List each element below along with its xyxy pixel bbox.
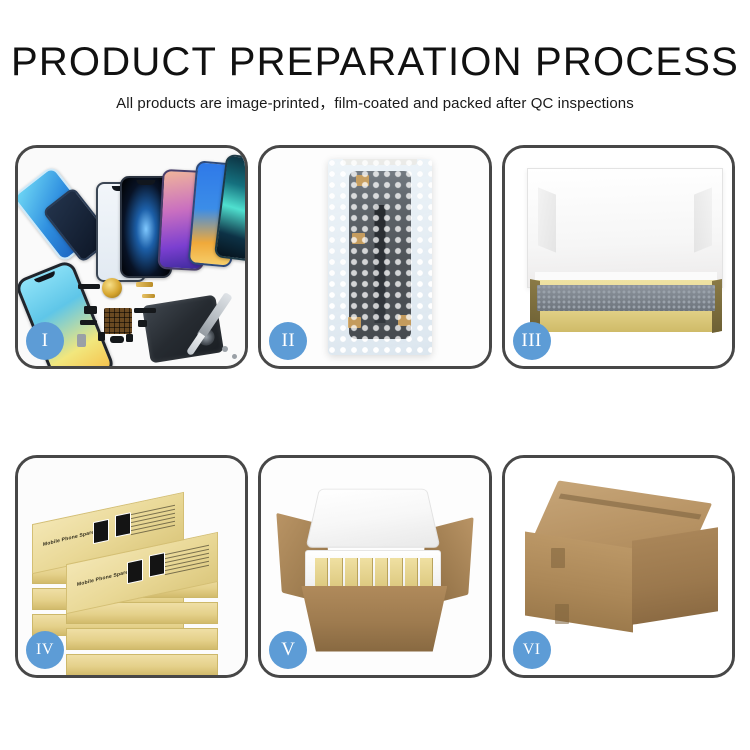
carton-front-face	[525, 531, 633, 632]
box-thumb-back-b	[115, 512, 131, 537]
stacked-box-front-3	[66, 628, 218, 650]
bubble-wrap-illustration: II	[261, 148, 488, 366]
process-step-card-3: III	[502, 145, 735, 369]
lid-flap-left	[538, 187, 556, 252]
box-text-lines-front	[165, 544, 209, 581]
master-carton-illustration: V	[261, 458, 488, 676]
screw-part-a	[222, 346, 228, 352]
phone-backplate	[142, 295, 224, 364]
carton-tape-lower	[555, 604, 569, 624]
box-thumb-front-b	[149, 552, 165, 577]
shipping-carton	[525, 492, 717, 624]
bubble-texture-overlay	[328, 159, 432, 355]
sealed-carton-illustration: VI	[505, 458, 732, 676]
carton-side-face	[632, 527, 718, 625]
white-box-lid	[527, 168, 723, 288]
speaker-part	[110, 336, 124, 343]
antenna-flex-part	[134, 308, 156, 313]
grey-foam-padding	[537, 285, 715, 311]
styrofoam-lid	[306, 488, 441, 547]
step-badge-3: III	[513, 322, 551, 360]
process-step-grid: I II	[15, 145, 735, 678]
header: PRODUCT PREPARATION PROCESS All products…	[0, 38, 750, 113]
battery-part	[77, 334, 86, 347]
product-preparation-infographic: PRODUCT PREPARATION PROCESS All products…	[0, 0, 750, 750]
camera-module-part	[98, 332, 105, 341]
stacked-boxes-illustration: Mobile Phone Spare Parts Mobile Phone Sp…	[18, 458, 245, 676]
page-title: PRODUCT PREPARATION PROCESS	[0, 38, 750, 86]
lid-flap-right	[694, 187, 712, 252]
process-step-card-5: V	[258, 455, 491, 679]
box-thumb-front-a	[127, 558, 143, 583]
ribbon-cable-part	[80, 320, 97, 325]
inner-box-illustration: III	[505, 148, 732, 366]
ic-chip-grid	[104, 308, 132, 334]
step-badge-2: II	[269, 322, 307, 360]
sim-tray-part	[138, 320, 147, 327]
small-module-part	[84, 306, 97, 314]
step-badge-4: IV	[26, 631, 64, 669]
vibration-motor-part	[126, 334, 133, 342]
bubble-wrap-bag	[328, 159, 432, 355]
step-badge-1: I	[26, 322, 64, 360]
process-step-card-4: Mobile Phone Spare Parts Mobile Phone Sp…	[15, 455, 248, 679]
step-badge-5: V	[269, 631, 307, 669]
phone-parts-illustration: I	[18, 148, 245, 366]
box-text-lines-back	[131, 504, 175, 541]
flex-cable-part	[78, 284, 100, 289]
carton-body	[301, 586, 447, 652]
gold-coil-part	[102, 278, 122, 298]
gold-connector-part	[136, 282, 153, 287]
step-badge-6: VI	[513, 631, 551, 669]
gold-contact-part	[142, 294, 155, 298]
box-thumb-back-a	[93, 518, 109, 543]
carton-tape-upper	[551, 548, 565, 568]
stacked-box-front-4	[66, 654, 218, 676]
process-step-card-2: II	[258, 145, 491, 369]
screw-part-b	[232, 354, 237, 359]
page-subtitle: All products are image-printed，film-coat…	[0, 92, 750, 113]
process-step-card-6: VI	[502, 455, 735, 679]
process-step-card-1: I	[15, 145, 248, 369]
